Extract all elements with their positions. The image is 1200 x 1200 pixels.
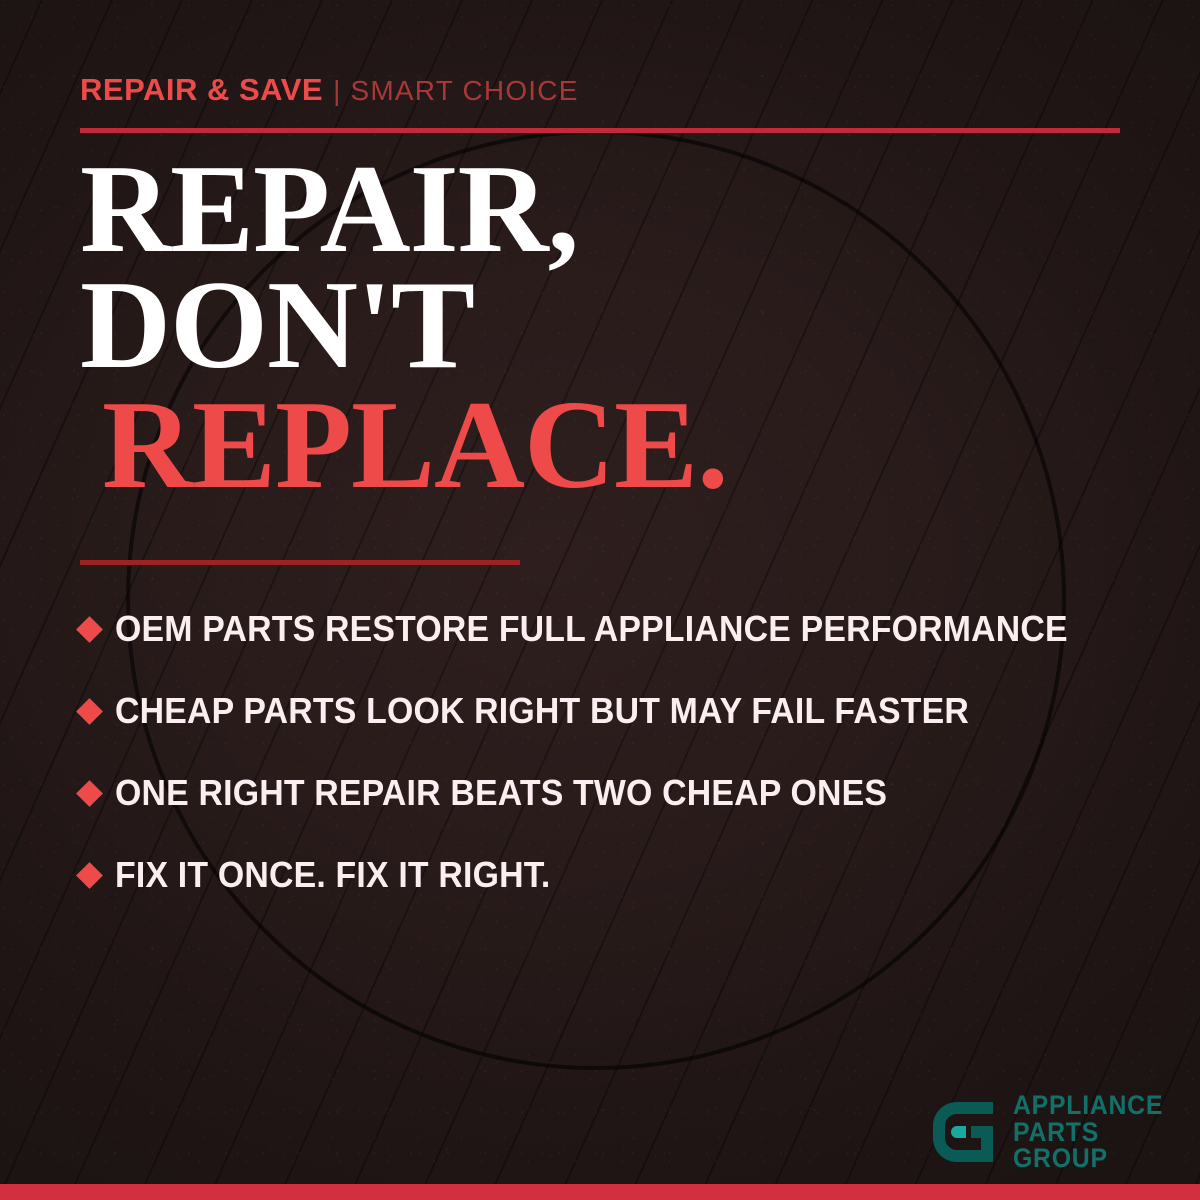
headline-line-1: REPAIR,	[80, 152, 1140, 268]
headline-block: REPAIR, DON'T REPLACE.	[80, 152, 1140, 504]
list-item: CHEAP PARTS LOOK RIGHT BUT MAY FAIL FAST…	[80, 670, 1150, 752]
headline-divider-rule	[80, 560, 520, 565]
brand-wordmark: APPLIANCE PARTS GROUP	[1013, 1092, 1176, 1172]
diamond-bullet-icon	[76, 862, 103, 889]
brand-word-3: GROUP	[1013, 1145, 1163, 1172]
list-item: FIX IT ONCE. FIX IT RIGHT.	[80, 834, 1150, 916]
headline-line-3: REPLACE.	[80, 388, 1140, 504]
headline-line-2: DON'T	[80, 268, 1140, 384]
eyebrow-light-text: | SMART CHOICE	[333, 75, 579, 107]
g-monogram-icon	[927, 1096, 999, 1168]
brand-word-2: PARTS	[1013, 1119, 1163, 1146]
diamond-bullet-icon	[76, 616, 103, 643]
brand-logo: APPLIANCE PARTS GROUP	[927, 1092, 1176, 1172]
list-item-label: OEM PARTS RESTORE FULL APPLIANCE PERFORM…	[115, 608, 1068, 650]
diamond-bullet-icon	[76, 780, 103, 807]
list-item-label: FIX IT ONCE. FIX IT RIGHT.	[115, 854, 550, 896]
eyebrow: REPAIR & SAVE | SMART CHOICE	[80, 72, 579, 108]
bottom-accent-bar	[0, 1184, 1200, 1200]
benefit-list: OEM PARTS RESTORE FULL APPLIANCE PERFORM…	[80, 588, 1150, 916]
eyebrow-strong-text: REPAIR & SAVE	[80, 72, 323, 108]
header-divider-rule	[80, 128, 1120, 133]
list-item-label: ONE RIGHT REPAIR BEATS TWO CHEAP ONES	[115, 772, 887, 814]
diamond-bullet-icon	[76, 698, 103, 725]
list-item: ONE RIGHT REPAIR BEATS TWO CHEAP ONES	[80, 752, 1150, 834]
list-item: OEM PARTS RESTORE FULL APPLIANCE PERFORM…	[80, 588, 1150, 670]
list-item-label: CHEAP PARTS LOOK RIGHT BUT MAY FAIL FAST…	[115, 690, 969, 732]
promo-poster: REPAIR & SAVE | SMART CHOICE REPAIR, DON…	[0, 0, 1200, 1200]
brand-word-1: APPLIANCE	[1013, 1092, 1163, 1119]
